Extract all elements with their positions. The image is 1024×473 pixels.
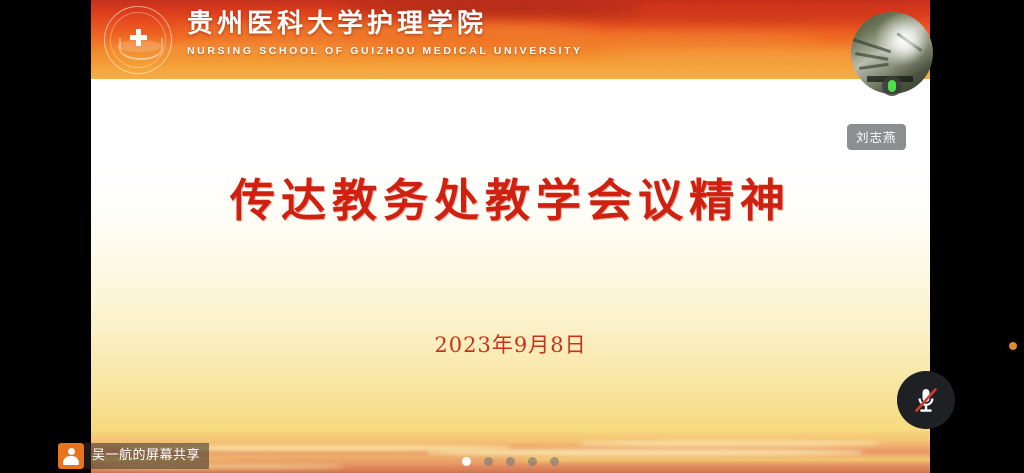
university-crest-logo-icon xyxy=(104,6,172,74)
person-body xyxy=(63,456,79,465)
avatar-detail xyxy=(859,63,889,70)
screen-share-label: 吴一航的屏幕共享 xyxy=(84,443,209,469)
slide-body: 传达教务处教学会议精神 2023年9月8日 xyxy=(91,79,930,473)
crest-wreath xyxy=(119,38,163,60)
notification-dot[interactable] xyxy=(1009,342,1017,350)
page-dot-3[interactable] xyxy=(506,457,515,466)
school-name-cn: 贵州医科大学护理学院 xyxy=(187,10,583,39)
sunset-strip xyxy=(91,429,930,473)
person-head xyxy=(68,448,75,455)
page-dot-5[interactable] xyxy=(550,457,559,466)
cloud-streak xyxy=(578,441,880,446)
screen-share-participants-icon xyxy=(58,443,84,469)
page-dot-1[interactable] xyxy=(462,457,471,466)
slide-date: 2023年9月8日 xyxy=(91,329,930,359)
mic-level-bar xyxy=(888,80,896,92)
avatar-detail xyxy=(855,52,889,61)
cloud-streak xyxy=(427,449,863,456)
cloud-shape xyxy=(594,50,894,60)
page-dot-2[interactable] xyxy=(484,457,493,466)
screen-share-banner[interactable]: 吴一航的屏幕共享 xyxy=(58,443,209,469)
shared-screen-slide[interactable]: 贵州医科大学护理学院 NURSING SCHOOL OF GUIZHOU MED… xyxy=(91,0,930,473)
school-name-en: NURSING SCHOOL OF GUIZHOU MEDICAL UNIVER… xyxy=(187,45,583,57)
mute-toggle-button[interactable] xyxy=(897,371,955,429)
slide-header-text: 贵州医科大学护理学院 NURSING SCHOOL OF GUIZHOU MED… xyxy=(187,10,583,57)
avatar-highlight xyxy=(895,30,919,54)
slide-header-banner: 贵州医科大学护理学院 NURSING SCHOOL OF GUIZHOU MED… xyxy=(91,0,930,79)
mic-active-indicator-icon xyxy=(882,76,902,96)
participant-name-label: 刘志燕 xyxy=(847,124,906,150)
participant-tile[interactable]: 刘志燕 xyxy=(851,12,933,94)
page-dot-4[interactable] xyxy=(528,457,537,466)
avatar-detail xyxy=(853,38,892,53)
slide-title: 传达教务处教学会议精神 xyxy=(91,164,930,229)
microphone-muted-icon xyxy=(909,383,943,417)
page-indicator-dots[interactable] xyxy=(91,457,930,466)
meeting-screen: 贵州医科大学护理学院 NURSING SCHOOL OF GUIZHOU MED… xyxy=(0,0,1024,473)
